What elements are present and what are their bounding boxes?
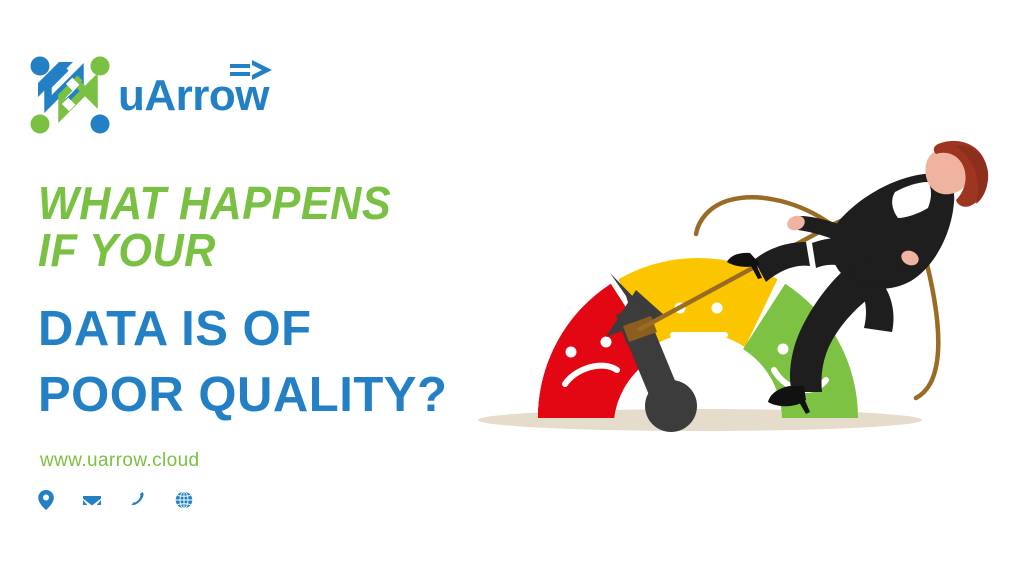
businesswoman-pulling-rope [727, 141, 988, 414]
headline-green: WHAT HAPPENS IF YOUR [38, 180, 480, 274]
marketing-banner: uArrow WHAT HAPPENS IF YOUR DATA IS OF P… [0, 0, 1024, 576]
website-url[interactable]: www.uarrow.cloud [40, 450, 200, 472]
phone-icon[interactable] [128, 489, 148, 511]
data-quality-gauge-illustration [440, 130, 1010, 460]
headline-green-line-2: IF YOUR [38, 227, 480, 274]
brand-logo[interactable]: uArrow [28, 48, 288, 144]
contact-icon-row [36, 489, 194, 511]
location-pin-icon[interactable] [36, 489, 56, 511]
uarrow-interlocking-logo-icon [28, 52, 114, 138]
globe-icon[interactable] [174, 489, 194, 511]
headline-green-line-1: WHAT HAPPENS [38, 180, 480, 227]
envelope-icon[interactable] [82, 489, 102, 511]
logo-arrow-icon [228, 56, 276, 86]
